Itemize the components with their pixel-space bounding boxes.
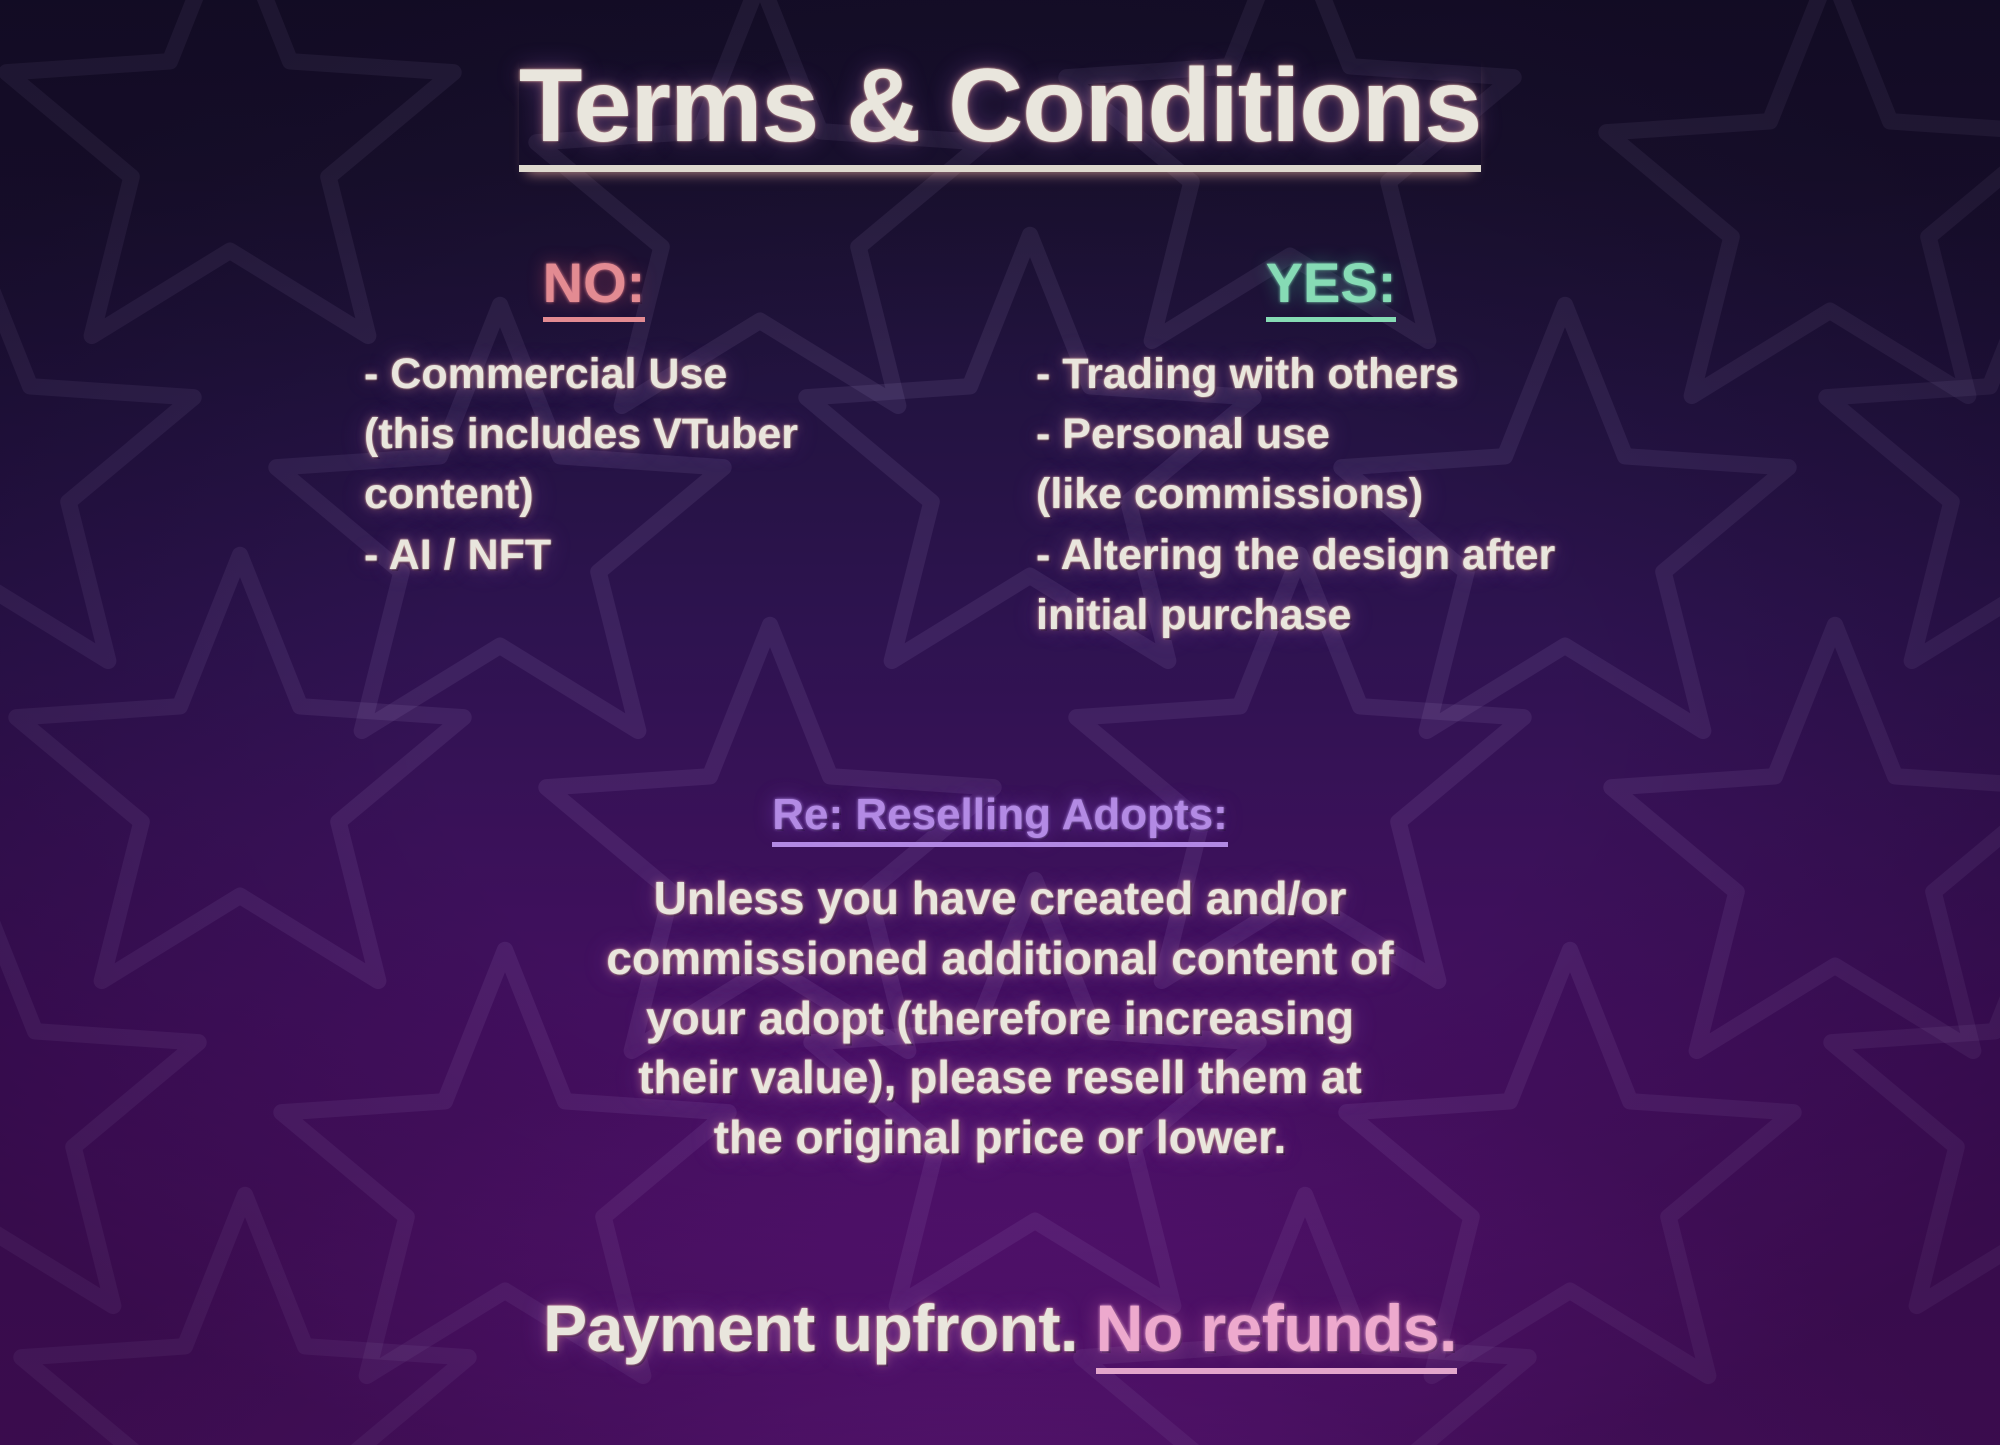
list-item: (this includes VTuber content) xyxy=(364,404,964,524)
list-item: - Commercial Use xyxy=(364,344,964,404)
list-item: (like commissions) xyxy=(1036,464,1636,524)
terms-and-conditions-card: Terms & Conditions NO: - Commercial Use … xyxy=(0,0,2000,1445)
payment-text: Payment upfront. xyxy=(543,1291,1078,1365)
no-heading-text: NO: xyxy=(543,250,646,322)
yes-list: - Trading with others - Personal use (li… xyxy=(1036,344,1636,645)
no-refunds-text: No refunds. xyxy=(1096,1291,1457,1374)
permissions-columns: NO: - Commercial Use (this includes VTub… xyxy=(0,250,2000,645)
list-item: - Personal use xyxy=(1036,404,1636,464)
reselling-heading: Re: Reselling Adopts: xyxy=(0,790,2000,847)
page-title-text: Terms & Conditions xyxy=(519,52,1481,172)
yes-heading-text: YES: xyxy=(1266,250,1397,322)
yes-column-heading: YES: xyxy=(1036,250,1636,322)
yes-column: YES: - Trading with others - Personal us… xyxy=(964,250,1636,645)
list-item: - AI / NFT xyxy=(364,525,964,585)
list-item: - Altering the design after initial purc… xyxy=(1036,525,1636,645)
no-column-heading: NO: xyxy=(364,250,964,322)
page-title: Terms & Conditions xyxy=(0,52,2000,172)
footer-spacer xyxy=(1078,1291,1096,1365)
reselling-body: Unless you have created and/or commissio… xyxy=(0,869,2000,1168)
no-column: NO: - Commercial Use (this includes VTub… xyxy=(364,250,964,645)
reselling-heading-text: Re: Reselling Adopts: xyxy=(772,790,1228,847)
no-list: - Commercial Use (this includes VTuber c… xyxy=(364,344,964,585)
list-item: - Trading with others xyxy=(1036,344,1636,404)
reselling-section: Re: Reselling Adopts: Unless you have cr… xyxy=(0,790,2000,1168)
footer-line: Payment upfront. No refunds. xyxy=(0,1290,2000,1366)
